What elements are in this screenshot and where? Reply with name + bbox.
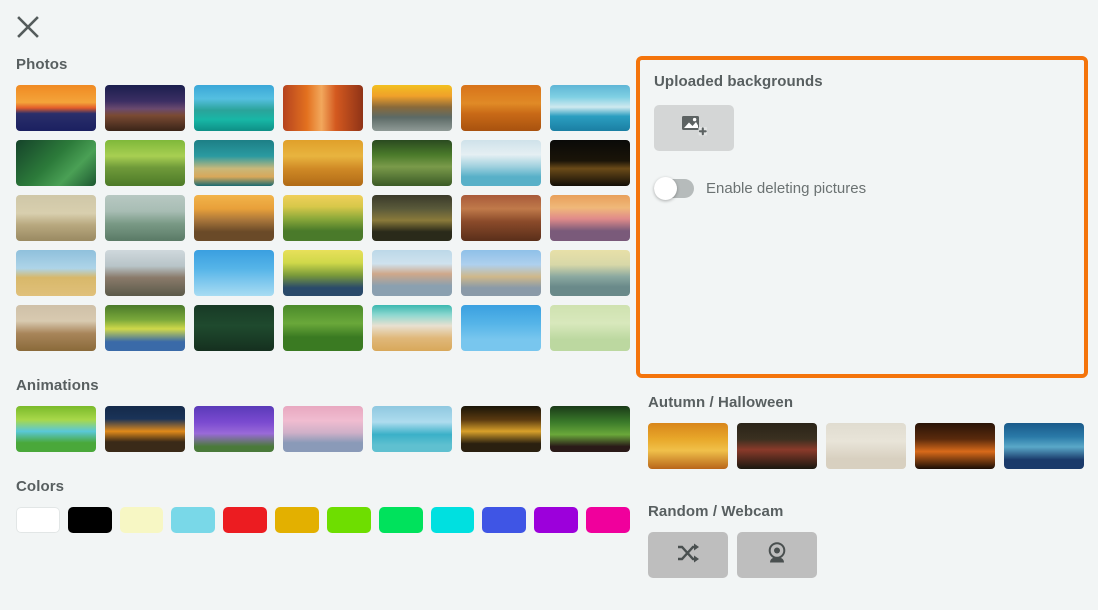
photo-thumbnail[interactable] — [550, 85, 630, 131]
autumn-thumbnail[interactable] — [648, 423, 728, 469]
photo-thumbnail[interactable] — [283, 85, 363, 131]
add-image-icon — [681, 114, 707, 143]
random-webcam-title: Random / Webcam — [648, 503, 1098, 520]
close-icon[interactable] — [14, 13, 42, 41]
upload-background-button[interactable] — [654, 105, 734, 151]
photo-thumbnail[interactable] — [550, 250, 630, 296]
photo-thumbnail[interactable] — [194, 305, 274, 351]
photo-thumbnail[interactable] — [283, 140, 363, 186]
photo-thumbnail[interactable] — [461, 250, 541, 296]
photo-thumbnail[interactable] — [194, 85, 274, 131]
photo-thumbnail[interactable] — [372, 305, 452, 351]
color-swatch-royal-blue[interactable] — [482, 507, 526, 533]
photo-thumbnail[interactable] — [16, 250, 96, 296]
photo-thumbnail[interactable] — [105, 305, 185, 351]
color-swatch-red[interactable] — [223, 507, 267, 533]
photo-thumbnail[interactable] — [105, 250, 185, 296]
photos-title: Photos — [16, 56, 630, 73]
random-webcam-section: Random / Webcam — [648, 503, 1098, 578]
webcam-button[interactable] — [737, 532, 817, 578]
photo-thumbnail[interactable] — [461, 140, 541, 186]
animations-section: Animations — [0, 377, 630, 452]
photo-thumbnail[interactable] — [550, 140, 630, 186]
colors-row — [16, 507, 630, 533]
uploaded-backgrounds-title: Uploaded backgrounds — [654, 73, 1070, 90]
photo-thumbnail[interactable] — [105, 195, 185, 241]
photo-thumbnail[interactable] — [16, 85, 96, 131]
autumn-halloween-section: Autumn / Halloween — [648, 394, 1098, 469]
photo-thumbnail[interactable] — [105, 140, 185, 186]
photo-thumbnail[interactable] — [372, 140, 452, 186]
photos-section: Photos — [0, 56, 630, 351]
autumn-halloween-title: Autumn / Halloween — [648, 394, 1098, 411]
photo-thumbnail[interactable] — [16, 140, 96, 186]
colors-title: Colors — [16, 478, 630, 495]
color-swatch-pale-yellow[interactable] — [120, 507, 164, 533]
photo-thumbnail[interactable] — [461, 195, 541, 241]
color-swatch-purple[interactable] — [534, 507, 578, 533]
animation-thumbnail[interactable] — [550, 406, 630, 452]
uploaded-backgrounds-panel: Uploaded backgrounds Enable deletin — [636, 56, 1088, 378]
photo-thumbnail[interactable] — [194, 140, 274, 186]
colors-section: Colors — [0, 478, 630, 533]
animation-thumbnail[interactable] — [372, 406, 452, 452]
animations-title: Animations — [16, 377, 630, 394]
photo-thumbnail[interactable] — [283, 195, 363, 241]
photo-thumbnail[interactable] — [16, 195, 96, 241]
animation-thumbnail[interactable] — [16, 406, 96, 452]
photo-thumbnail[interactable] — [461, 305, 541, 351]
photo-thumbnail[interactable] — [550, 305, 630, 351]
animation-thumbnail[interactable] — [105, 406, 185, 452]
webcam-icon — [765, 541, 789, 570]
random-webcam-buttons — [648, 532, 1098, 578]
toggle-knob — [654, 177, 677, 200]
animation-thumbnail[interactable] — [461, 406, 541, 452]
enable-deleting-pictures-toggle[interactable] — [654, 179, 694, 198]
photo-thumbnail[interactable] — [194, 195, 274, 241]
autumn-thumbnail[interactable] — [737, 423, 817, 469]
photo-thumbnail[interactable] — [16, 305, 96, 351]
photo-thumbnail[interactable] — [283, 250, 363, 296]
autumn-thumbnail[interactable] — [1004, 423, 1084, 469]
shuffle-button[interactable] — [648, 532, 728, 578]
autumn-halloween-grid — [648, 423, 1098, 469]
photo-thumbnail[interactable] — [372, 195, 452, 241]
left-column: Photos Animations Colors — [0, 56, 630, 533]
color-swatch-black[interactable] — [68, 507, 112, 533]
photo-thumbnail[interactable] — [372, 250, 452, 296]
photo-thumbnail[interactable] — [283, 305, 363, 351]
color-swatch-lime-green[interactable] — [327, 507, 371, 533]
color-swatch-sky-blue[interactable] — [171, 507, 215, 533]
animations-grid — [16, 406, 630, 452]
photos-grid — [16, 85, 630, 351]
autumn-thumbnail[interactable] — [826, 423, 906, 469]
photo-thumbnail[interactable] — [461, 85, 541, 131]
photo-thumbnail[interactable] — [372, 85, 452, 131]
photo-thumbnail[interactable] — [105, 85, 185, 131]
background-picker-dialog: Photos Animations Colors Uploaded backgr… — [0, 0, 1098, 610]
color-swatch-cyan[interactable] — [431, 507, 475, 533]
shuffle-icon — [676, 542, 700, 569]
color-swatch-magenta[interactable] — [586, 507, 630, 533]
enable-deleting-pictures-row[interactable]: Enable deleting pictures — [654, 179, 1070, 198]
color-swatch-gold[interactable] — [275, 507, 319, 533]
photo-thumbnail[interactable] — [194, 250, 274, 296]
animation-thumbnail[interactable] — [194, 406, 274, 452]
photo-thumbnail[interactable] — [550, 195, 630, 241]
enable-deleting-pictures-label: Enable deleting pictures — [706, 180, 866, 197]
color-swatch-white[interactable] — [16, 507, 60, 533]
autumn-thumbnail[interactable] — [915, 423, 995, 469]
animation-thumbnail[interactable] — [283, 406, 363, 452]
color-swatch-spring-green[interactable] — [379, 507, 423, 533]
